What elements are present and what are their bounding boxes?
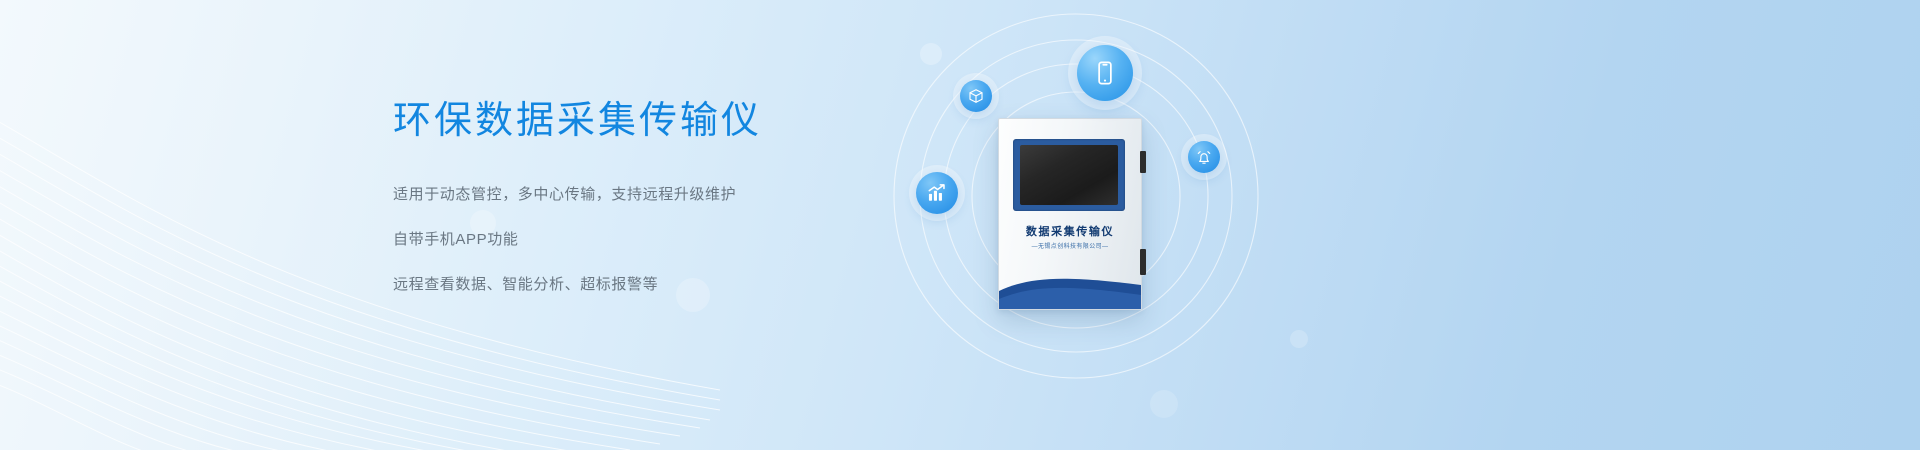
product-illustration: 数据采集传输仪 —无锡点创科技有限公司—	[880, 0, 1300, 450]
device-wave-footer	[999, 269, 1141, 309]
bar-chart-icon[interactable]	[916, 172, 958, 214]
banner-subtitle-list: 适用于动态管控，多中心传输，支持远程升级维护 自带手机APP功能 远程查看数据、…	[393, 180, 913, 300]
device-cabinet: 数据采集传输仪 —无锡点创科技有限公司—	[998, 118, 1142, 310]
product-hero-banner: 环保数据采集传输仪 适用于动态管控，多中心传输，支持远程升级维护 自带手机APP…	[0, 0, 1920, 450]
banner-subtitle-line-3: 远程查看数据、智能分析、超标报警等	[393, 270, 913, 300]
banner-subtitle-line-1: 适用于动态管控，多中心传输，支持远程升级维护	[393, 180, 913, 210]
alarm-icon[interactable]	[1188, 141, 1220, 173]
device-brand-label: 数据采集传输仪	[999, 223, 1141, 239]
cube-icon[interactable]	[960, 80, 992, 112]
smartphone-icon[interactable]	[1077, 45, 1133, 101]
device-company-label: —无锡点创科技有限公司—	[999, 241, 1141, 250]
banner-copy: 环保数据采集传输仪 适用于动态管控，多中心传输，支持远程升级维护 自带手机APP…	[393, 96, 913, 315]
page-title: 环保数据采集传输仪	[393, 96, 913, 146]
device-screen-bezel	[1013, 139, 1125, 211]
device-hinge	[1140, 249, 1146, 275]
device-hinge	[1140, 151, 1146, 173]
banner-subtitle-line-2: 自带手机APP功能	[393, 225, 913, 255]
device-lcd-screen	[1020, 145, 1118, 205]
